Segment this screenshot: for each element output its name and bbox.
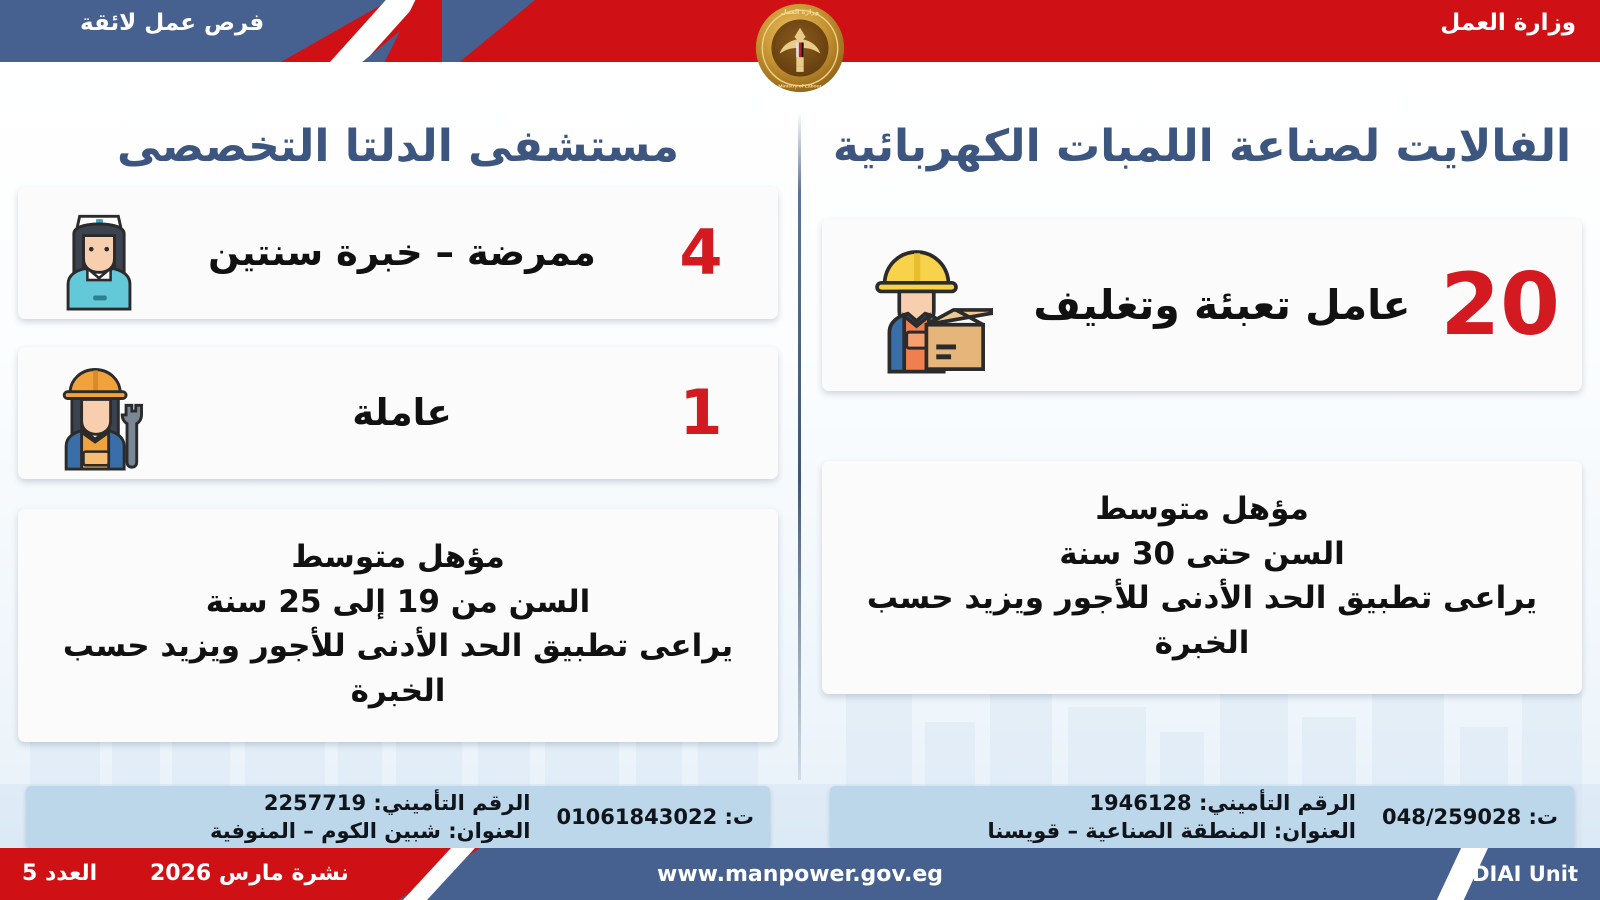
website-link[interactable]: www.manpower.gov.eg	[590, 862, 1010, 887]
infographic-page: وزارة العمل فرص عمل لائقة	[0, 0, 1600, 900]
job-card[interactable]: 1 عاملة	[18, 347, 778, 479]
contact-phone: ت: 01061843022	[530, 805, 754, 829]
insurance-number: الرقم التأميني: 1946128	[846, 789, 1356, 817]
nurse-icon	[40, 194, 158, 312]
ministry-emblem: وزارة العمل Ministry of Labour	[754, 2, 846, 94]
contact-strip-left: ت: 01061843022 الرقم التأميني: 2257719 ا…	[26, 786, 770, 848]
job-card[interactable]: 20 عامل تعبئة وتغليف	[822, 219, 1582, 391]
footer-bar: العدد 5 نشرة مارس 2026 www.manpower.gov.…	[0, 848, 1600, 900]
company-address: العنوان: شبين الكوم – المنوفية	[42, 817, 530, 845]
job-count: 1	[646, 382, 756, 444]
requirement-line: السن حتى 30 سنة	[842, 532, 1562, 577]
company-column-left: مستشفى الدلتا التخصصى 4 ممرضة – خبرة سنت…	[18, 108, 778, 764]
female-worker-icon	[40, 354, 158, 472]
issue-number: العدد 5	[22, 861, 97, 886]
insurance-number: الرقم التأميني: 2257719	[42, 789, 530, 817]
company-title-right: الفالايت لصناعة اللمبات الكهربائية	[822, 122, 1582, 173]
job-count: 20	[1450, 262, 1560, 348]
requirements-card-right: مؤهل متوسط السن حتى 30 سنة يراعى تطبيق ا…	[822, 461, 1582, 695]
requirement-line: يراعى تطبيق الحد الأدنى للأجور ويزيد حسب…	[38, 624, 758, 714]
ministry-title: وزارة العمل	[1440, 10, 1576, 36]
job-title: عاملة	[158, 391, 646, 434]
column-divider	[798, 112, 801, 780]
requirement-line: السن من 19 إلى 25 سنة	[38, 580, 758, 625]
requirements-card-left: مؤهل متوسط السن من 19 إلى 25 سنة يراعى ت…	[18, 509, 778, 743]
requirement-line: مؤهل متوسط	[38, 535, 758, 580]
job-count: 4	[646, 222, 756, 284]
diai-unit-label: DIAI Unit	[1472, 862, 1578, 886]
job-title: ممرضة – خبرة سنتين	[158, 231, 646, 274]
svg-text:Ministry of Labour: Ministry of Labour	[778, 84, 821, 90]
bulletin-date: نشرة مارس 2026	[150, 861, 349, 886]
tagline-label: فرص عمل لائقة	[80, 10, 264, 36]
requirement-line: يراعى تطبيق الحد الأدنى للأجور ويزيد حسب…	[842, 576, 1562, 666]
svg-text:وزارة العمل: وزارة العمل	[781, 8, 819, 16]
job-card[interactable]: 4 ممرضة – خبرة سنتين	[18, 187, 778, 319]
company-title-left: مستشفى الدلتا التخصصى	[18, 122, 778, 173]
requirement-line: مؤهل متوسط	[842, 487, 1562, 532]
contact-details: الرقم التأميني: 2257719 العنوان: شبين ال…	[42, 789, 530, 846]
contact-strip-right: ت: 048/259028 الرقم التأميني: 1946128 ال…	[830, 786, 1574, 848]
job-cards-right: 20 عامل تعبئة وتغليف	[822, 219, 1582, 695]
packaging-worker-icon	[844, 230, 994, 380]
egypt-eagle-seal-icon: وزارة العمل Ministry of Labour	[754, 2, 846, 94]
company-address: العنوان: المنطقة الصناعية – قويسنا	[846, 817, 1356, 845]
job-title: عامل تعبئة وتغليف	[994, 281, 1450, 329]
contact-phone: ت: 048/259028	[1356, 805, 1558, 829]
contact-details: الرقم التأميني: 1946128 العنوان: المنطقة…	[846, 789, 1356, 846]
company-column-right: الفالايت لصناعة اللمبات الكهربائية 20 عا…	[822, 108, 1582, 716]
job-cards-left: 4 ممرضة – خبرة سنتين	[18, 187, 778, 743]
